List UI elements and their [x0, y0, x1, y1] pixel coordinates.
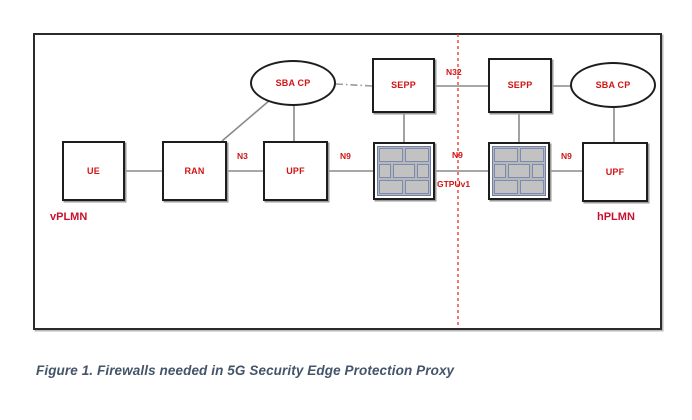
figure-container: UE RAN UPF: [0, 0, 692, 420]
brick: [393, 164, 414, 178]
brick-row: [379, 164, 429, 178]
brick: [379, 164, 391, 178]
brick: [494, 164, 506, 178]
region-label-vplmn: vPLMN: [50, 212, 87, 223]
node-sba-cp-vplmn-label: SBA CP: [276, 79, 311, 88]
node-sepp-vplmn-label: SEPP: [391, 81, 416, 90]
diagram-frame: [33, 33, 662, 330]
node-upf-hplmn-label: UPF: [606, 168, 625, 177]
brick: [405, 148, 429, 162]
node-upf-hplmn[interactable]: UPF: [582, 142, 648, 202]
node-sba-cp-vplmn[interactable]: SBA CP: [250, 60, 336, 106]
link-label-n32: N32: [446, 68, 462, 77]
brick-wall-icon: [377, 146, 431, 196]
node-ue-label: UE: [87, 167, 100, 176]
brick-row: [494, 148, 544, 162]
node-ran-label: RAN: [184, 167, 204, 176]
node-sepp-hplmn[interactable]: SEPP: [488, 58, 552, 113]
link-label-n9-middle: N9: [452, 151, 463, 160]
node-ran[interactable]: RAN: [162, 141, 227, 201]
figure-caption: Figure 1. Firewalls needed in 5G Securit…: [36, 363, 454, 378]
link-label-n9-right: N9: [561, 152, 572, 161]
brick: [494, 148, 518, 162]
region-label-hplmn: hPLMN: [597, 212, 635, 223]
link-label-n9-left: N9: [340, 152, 351, 161]
brick-row: [494, 164, 544, 178]
node-sepp-vplmn[interactable]: SEPP: [372, 58, 435, 113]
brick: [520, 180, 544, 194]
node-ue[interactable]: UE: [62, 141, 125, 201]
brick: [494, 180, 518, 194]
link-label-gtpuv1: GTPUv1: [437, 180, 470, 189]
brick: [379, 180, 403, 194]
brick-row: [379, 180, 429, 194]
node-sba-cp-hplmn-label: SBA CP: [596, 81, 631, 90]
brick: [520, 148, 544, 162]
brick: [405, 180, 429, 194]
brick: [417, 164, 429, 178]
brick-row: [494, 180, 544, 194]
node-upf-vplmn-label: UPF: [286, 167, 305, 176]
node-firewall-vplmn[interactable]: [373, 142, 435, 200]
brick: [379, 148, 403, 162]
node-sepp-hplmn-label: SEPP: [508, 81, 533, 90]
brick: [532, 164, 544, 178]
brick-wall-icon: [492, 146, 546, 196]
link-label-n3: N3: [237, 152, 248, 161]
node-firewall-hplmn[interactable]: [488, 142, 550, 200]
node-sba-cp-hplmn[interactable]: SBA CP: [570, 62, 656, 108]
node-upf-vplmn[interactable]: UPF: [263, 141, 328, 201]
brick-row: [379, 148, 429, 162]
brick: [508, 164, 529, 178]
